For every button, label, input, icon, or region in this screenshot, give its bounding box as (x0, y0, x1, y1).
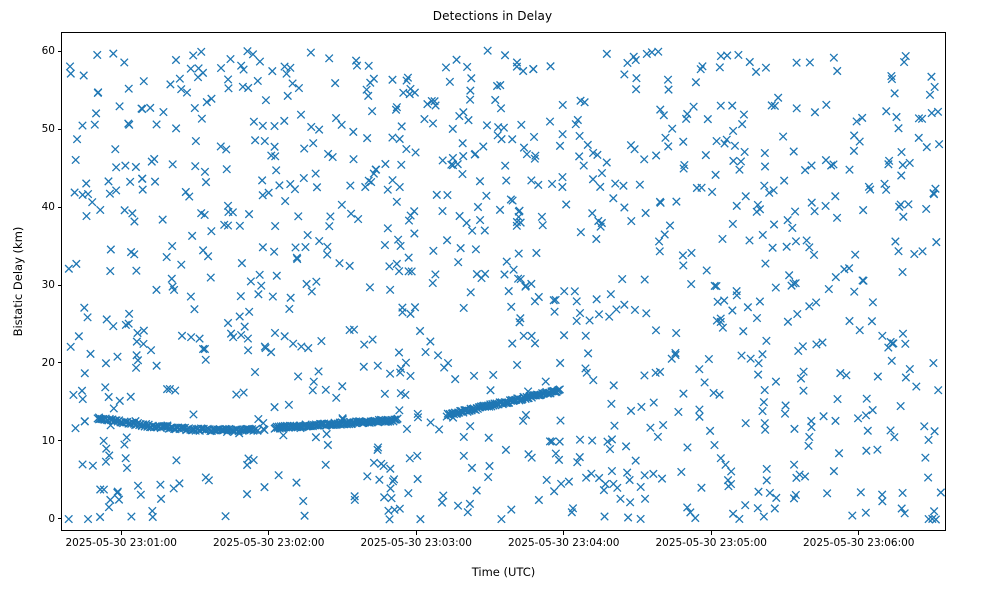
x-axis-tick-mark (858, 531, 859, 535)
y-axis-tick-mark (58, 129, 62, 130)
scatter-marker-group (65, 47, 945, 523)
x-axis-tick-label: 2025-05-30 23:01:00 (65, 537, 177, 549)
scatter-plot-svg (62, 33, 947, 532)
x-axis-tick-label: 2025-05-30 23:02:00 (213, 537, 325, 549)
y-axis-tick-label: 20 (29, 357, 55, 369)
y-axis-tick-mark (58, 518, 62, 519)
x-axis-tick-mark (268, 531, 269, 535)
y-axis-tick-mark (58, 285, 62, 286)
y-axis-tick-label: 0 (29, 513, 55, 525)
x-axis-tick-mark (121, 531, 122, 535)
x-axis-label: Time (UTC) (61, 565, 946, 579)
x-axis-tick-label: 2025-05-30 23:06:00 (803, 537, 915, 549)
x-axis-tick-label: 2025-05-30 23:03:00 (360, 537, 472, 549)
x-axis-tick-label: 2025-05-30 23:04:00 (508, 537, 620, 549)
y-axis-tick-label: 50 (29, 123, 55, 135)
y-axis-tick-labels: 0102030405060 (27, 0, 55, 590)
y-axis-tick-mark (58, 207, 62, 208)
y-axis-tick-label: 30 (29, 279, 55, 291)
x-axis-tick-mark (711, 531, 712, 535)
x-axis-tick-label: 2025-05-30 23:05:00 (655, 537, 767, 549)
x-axis-tick-mark (563, 531, 564, 535)
y-axis-tick-mark (58, 362, 62, 363)
y-axis-tick-mark (58, 51, 62, 52)
y-axis-tick-label: 40 (29, 201, 55, 213)
y-axis-tick-mark (58, 440, 62, 441)
y-axis-tick-label: 10 (29, 435, 55, 447)
y-axis-tick-label: 60 (29, 45, 55, 57)
figure-canvas: Detections in Delay Bistatic Delay (km) … (0, 0, 985, 590)
page-title: Detections in Delay (0, 9, 985, 23)
x-axis-tick-mark (416, 531, 417, 535)
plot-area (61, 32, 946, 531)
